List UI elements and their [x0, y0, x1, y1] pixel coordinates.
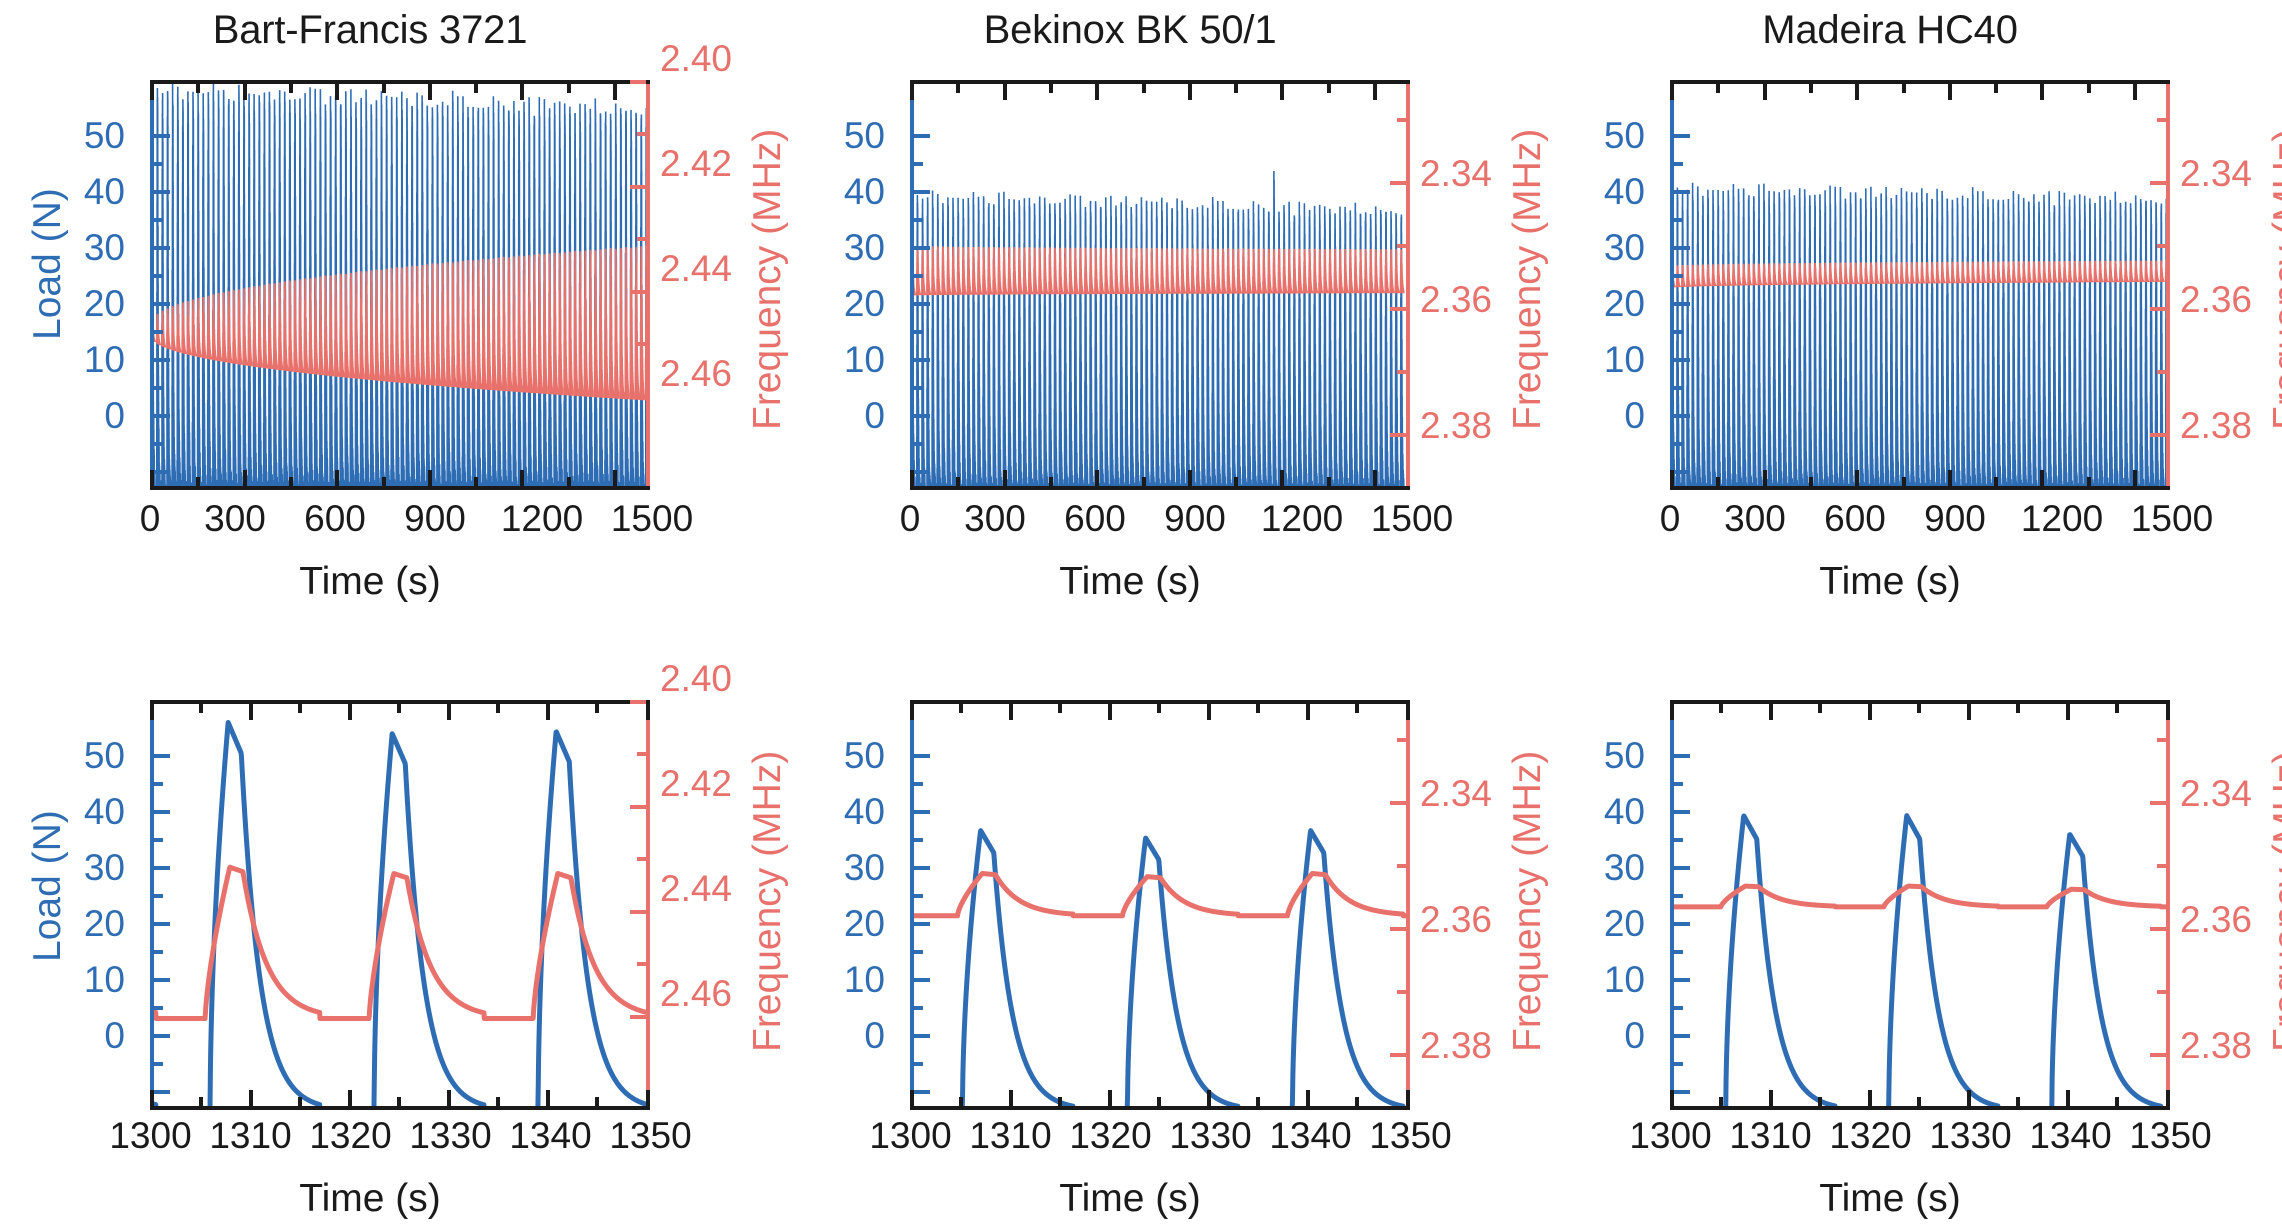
y-tick — [1674, 330, 1683, 334]
y-tick — [1674, 1006, 1683, 1010]
y2-tick — [630, 80, 646, 84]
x-tick-label: 0 — [110, 500, 190, 537]
y-tick — [154, 978, 170, 982]
y-tick — [1674, 218, 1683, 222]
y2-tick-label-frequency: 2.38 — [1420, 1027, 1492, 1064]
y-tick-label-load: 0 — [815, 397, 885, 434]
x-tick-top — [2040, 84, 2044, 100]
y2-tick-label-frequency: 2.36 — [1420, 281, 1492, 318]
x-tick — [910, 470, 914, 486]
y2-tick-label-frequency: 2.38 — [2180, 1027, 2252, 1064]
x-tick-label: 600 — [1040, 500, 1150, 537]
y-tick — [154, 1034, 170, 1038]
x-tick — [646, 1090, 650, 1106]
y-tick — [914, 442, 923, 446]
x-tick-top — [956, 84, 960, 93]
y-tick-label-load: 50 — [55, 117, 125, 154]
y-tick — [914, 838, 923, 842]
y-tick — [914, 1090, 930, 1094]
y-tick — [1674, 302, 1690, 306]
y2-tick — [637, 237, 646, 241]
x-tick-top — [335, 84, 339, 100]
panel-bart-francis-overview: Bart-Francis 3721 Load (N) Frequency (MH… — [0, 0, 760, 612]
y-tick — [1674, 922, 1690, 926]
x-tick — [1049, 477, 1053, 486]
y-tick — [914, 978, 930, 982]
plot-area[interactable] — [910, 80, 1410, 490]
x-tick-label: 300 — [940, 500, 1050, 537]
y-tick — [154, 414, 170, 418]
y-tick — [914, 922, 930, 926]
y2-tick — [1397, 864, 1406, 868]
y-tick — [914, 190, 930, 194]
right-spine — [1406, 80, 1410, 490]
x-tick-top — [196, 84, 200, 93]
y2-tick — [630, 185, 646, 189]
y-tick-label-load: 20 — [1575, 285, 1645, 322]
y-tick — [1674, 442, 1683, 446]
y-tick-label-load: 10 — [1575, 961, 1645, 998]
y-tick — [914, 894, 923, 898]
y-tick — [1674, 386, 1683, 390]
x-tick-top — [1234, 84, 1238, 93]
x-tick-top — [546, 704, 550, 720]
y2-tick-label-frequency: 2.36 — [2180, 901, 2252, 938]
x-tick-top — [520, 84, 524, 100]
y-tick — [1674, 950, 1683, 954]
plot-svg — [910, 700, 1410, 1110]
x-tick-top — [382, 84, 386, 93]
x-tick — [447, 1090, 451, 1106]
y-tick — [914, 414, 930, 418]
y-tick — [1674, 358, 1690, 362]
x-tick-top — [1142, 84, 1146, 93]
x-tick-top — [474, 84, 478, 93]
x-tick — [1280, 470, 1284, 486]
series-canvas — [1670, 80, 2170, 490]
top-spine — [910, 80, 1410, 84]
y-tick-label-load: 0 — [55, 397, 125, 434]
load-series — [1670, 816, 2170, 1110]
load-series — [910, 171, 1404, 490]
left-spine — [910, 80, 914, 490]
x-tick — [1763, 470, 1767, 486]
y2-tick — [1390, 801, 1406, 805]
y-tick — [1674, 1062, 1683, 1066]
x-tick-label: 600 — [1800, 500, 1910, 537]
bottom-spine — [1670, 1106, 2170, 1110]
y-tick — [914, 358, 930, 362]
x-tick — [196, 477, 200, 486]
y2-tick — [1397, 370, 1406, 374]
plot-svg — [1670, 80, 2170, 490]
x-tick-top — [1818, 704, 1822, 713]
y-tick — [914, 1006, 923, 1010]
x-tick — [1670, 1090, 1674, 1106]
x-tick — [2016, 1097, 2020, 1106]
x-tick-top — [1207, 704, 1211, 720]
x-tick — [520, 470, 524, 486]
y-tick — [154, 218, 163, 222]
x-tick-top — [1058, 704, 1062, 713]
x-tick — [567, 477, 571, 486]
y2-tick — [2157, 864, 2166, 868]
x-tick — [1355, 1097, 1359, 1106]
x-tick — [1719, 1097, 1723, 1106]
y-tick — [914, 782, 923, 786]
x-tick-label: 1500 — [2102, 500, 2242, 537]
panel-bekinox-zoom: Frequency (MHz) Time (s) 50 40 30 20 10 … — [760, 612, 1520, 1224]
y-tick — [914, 246, 930, 250]
x-tick — [1868, 1090, 1872, 1106]
y2-tick-label-frequency: 2.34 — [1420, 155, 1492, 192]
x-axis-title: Time (s) — [1680, 560, 2100, 604]
x-tick — [335, 470, 339, 486]
x-tick-label: 1500 — [1342, 500, 1482, 537]
x-tick-top — [348, 704, 352, 720]
y-tick — [154, 922, 170, 926]
y-tick-label-load: 10 — [55, 341, 125, 378]
x-tick — [1234, 477, 1238, 486]
y-tick — [154, 1006, 163, 1010]
x-tick-top — [243, 84, 247, 100]
plot-area[interactable] — [1670, 80, 2170, 490]
x-tick — [1373, 470, 1377, 486]
x-tick-top — [2066, 704, 2070, 720]
y-tick — [1674, 810, 1690, 814]
y-tick-label-load: 0 — [55, 1017, 125, 1054]
x-tick-top — [1763, 84, 1767, 100]
y2-tick — [2157, 738, 2166, 742]
y2-tick — [2150, 801, 2166, 805]
x-tick — [397, 1097, 401, 1106]
y2-tick — [637, 752, 646, 756]
x-tick-top — [1280, 84, 1284, 100]
y-tick-label-load: 50 — [1575, 117, 1645, 154]
x-tick-top — [1373, 84, 1377, 100]
y-tick — [914, 1062, 923, 1066]
x-tick — [496, 1097, 500, 1106]
plot-area[interactable] — [150, 80, 650, 490]
y-tick-label-load: 40 — [1575, 793, 1645, 830]
panel-title: Bekinox BK 50/1 — [800, 8, 1460, 53]
y-tick — [154, 754, 170, 758]
panel-bart-francis-zoom: Load (N) Frequency (MHz) Time (s) 50 40 … — [0, 612, 760, 1224]
y-tick — [914, 810, 930, 814]
panel-madeira-overview: Madeira HC40 Time (s) Frequency (MHz) 50… — [1520, 0, 2282, 612]
y2-tick-label-frequency: 2.34 — [1420, 775, 1492, 812]
x-tick-top — [1095, 84, 1099, 100]
y-tick — [914, 470, 930, 474]
y2-tick — [637, 857, 646, 861]
y-tick — [154, 1090, 170, 1094]
y2-tick-label-frequency: 2.38 — [1420, 407, 1492, 444]
x-tick-top — [1967, 704, 1971, 720]
y-tick — [1674, 754, 1690, 758]
right-spine — [2166, 700, 2170, 1110]
x-tick-top — [1769, 704, 1773, 720]
x-tick-top — [1719, 704, 1723, 713]
bottom-spine — [1670, 486, 2170, 490]
y-tick-label-load: 40 — [1575, 173, 1645, 210]
y2-tick — [2157, 990, 2166, 994]
series-canvas — [1670, 700, 2170, 1110]
right-spine — [646, 80, 650, 490]
x-tick — [1902, 477, 1906, 486]
x-tick — [959, 1097, 963, 1106]
right-spine — [2166, 80, 2170, 490]
y-tick — [1674, 414, 1690, 418]
y2-tick — [2150, 433, 2166, 437]
y-tick-label-load: 30 — [55, 229, 125, 266]
series-canvas — [150, 80, 650, 490]
y2-tick — [2157, 244, 2166, 248]
bottom-spine — [910, 486, 1410, 490]
x-tick — [1157, 1097, 1161, 1106]
x-tick — [382, 477, 386, 486]
x-tick — [1207, 1090, 1211, 1106]
y-tick-label-load: 10 — [815, 961, 885, 998]
x-tick — [1009, 1090, 1013, 1106]
x-tick-label: 1350 — [2098, 1117, 2243, 1154]
y-tick — [914, 302, 930, 306]
y-tick — [154, 950, 163, 954]
y-tick-label-load: 10 — [815, 341, 885, 378]
bottom-spine — [150, 1106, 650, 1110]
y-tick-label-load: 50 — [815, 117, 885, 154]
x-tick-top — [1327, 84, 1331, 93]
x-tick-top — [1868, 704, 1872, 720]
y-tick — [1674, 246, 1690, 250]
x-tick — [956, 477, 960, 486]
y-tick — [914, 754, 930, 758]
figure-root: Bart-Francis 3721 Load (N) Frequency (MH… — [0, 0, 2282, 1224]
x-tick-top — [1306, 704, 1310, 720]
left-spine — [150, 80, 154, 490]
left-spine — [150, 700, 154, 1110]
x-tick — [1058, 1097, 1062, 1106]
x-tick — [289, 477, 293, 486]
y-tick — [154, 134, 170, 138]
series-canvas — [150, 700, 650, 1110]
panel-bekinox-overview: Bekinox BK 50/1 Time (s) Frequency (MHz)… — [760, 0, 1520, 612]
x-tick-top — [199, 704, 203, 713]
x-tick — [2040, 470, 2044, 486]
x-tick — [1188, 470, 1192, 486]
y-tick — [914, 218, 923, 222]
y-tick-label-load: 50 — [55, 737, 125, 774]
y-tick-label-load: 20 — [55, 285, 125, 322]
panel-madeira-zoom: Frequency (MHz) Time (s) 50 40 30 20 10 … — [1520, 612, 2282, 1224]
y-tick — [154, 302, 170, 306]
x-tick — [546, 1090, 550, 1106]
y2-tick-label-frequency: 2.42 — [660, 765, 732, 802]
x-tick-top — [959, 704, 963, 713]
x-tick-label: 0 — [1630, 500, 1710, 537]
y-tick — [154, 274, 163, 278]
x-tick — [910, 1090, 914, 1106]
x-axis-title: Time (s) — [160, 560, 580, 604]
bottom-spine — [150, 486, 650, 490]
left-spine — [1670, 80, 1674, 490]
x-tick-top — [1994, 84, 1998, 93]
plot-area[interactable] — [150, 700, 650, 1110]
x-tick — [1818, 1097, 1822, 1106]
x-tick — [613, 470, 617, 486]
y-tick-label-load: 10 — [1575, 341, 1645, 378]
x-tick — [2115, 1097, 2119, 1106]
x-tick-top — [1108, 704, 1112, 720]
right-spine — [646, 700, 650, 1110]
x-tick-label: 1350 — [578, 1117, 723, 1154]
y-tick — [914, 866, 930, 870]
x-tick-label: 300 — [1700, 500, 1810, 537]
x-tick-top — [1716, 84, 1720, 93]
y-tick-label-load: 40 — [55, 793, 125, 830]
x-tick-top — [150, 84, 154, 100]
x-tick — [1809, 477, 1813, 486]
x-tick — [243, 470, 247, 486]
y2-tick — [2150, 181, 2166, 185]
y2-tick — [630, 395, 646, 399]
y2-tick — [2150, 927, 2166, 931]
x-tick-top — [1256, 704, 1260, 713]
y-tick-label-load: 20 — [55, 905, 125, 942]
y-tick — [154, 782, 163, 786]
y2-tick-label-frequency: 2.46 — [660, 355, 732, 392]
x-tick-top — [567, 84, 571, 93]
y-tick — [914, 1034, 930, 1038]
x-tick — [2066, 1090, 2070, 1106]
plot-svg — [910, 80, 1410, 490]
x-tick-top — [1355, 704, 1359, 713]
y-tick-label-load: 30 — [55, 849, 125, 886]
y2-tick — [1397, 990, 1406, 994]
x-tick — [1855, 470, 1859, 486]
x-tick-top — [428, 84, 432, 100]
y2-tick — [2157, 370, 2166, 374]
x-tick-top — [2115, 704, 2119, 713]
y-tick — [154, 162, 163, 166]
y2-tick-label-frequency: 2.34 — [2180, 775, 2252, 812]
y-tick — [914, 950, 923, 954]
x-tick-top — [1188, 84, 1192, 100]
y2-tick — [1397, 738, 1406, 742]
x-tick — [348, 1090, 352, 1106]
x-tick — [1142, 477, 1146, 486]
x-tick-top — [2016, 704, 2020, 713]
y2-tick — [637, 342, 646, 346]
plot-svg — [1670, 700, 2170, 1110]
y2-tick — [630, 700, 646, 704]
y2-tick — [630, 1015, 646, 1019]
x-tick — [1917, 1097, 1921, 1106]
x-tick — [1256, 1097, 1260, 1106]
y2-tick — [637, 962, 646, 966]
x-tick-top — [1157, 704, 1161, 713]
y2-tick — [637, 132, 646, 136]
x-tick — [1716, 477, 1720, 486]
x-tick — [150, 1090, 154, 1106]
y2-tick — [1390, 927, 1406, 931]
bottom-spine — [910, 1106, 1410, 1110]
plot-svg — [150, 700, 650, 1110]
y2-tick-label-frequency: 2.36 — [1420, 901, 1492, 938]
x-tick-top — [397, 704, 401, 713]
y-tick — [914, 330, 923, 334]
y-tick — [914, 134, 930, 138]
plot-area[interactable] — [1670, 700, 2170, 1110]
x-tick-top — [595, 704, 599, 713]
y-tick-label-load: 20 — [1575, 905, 1645, 942]
y2-tick — [630, 910, 646, 914]
load-series — [1670, 183, 2167, 490]
x-tick-top — [1855, 84, 1859, 100]
y2-tick-label-frequency: 2.44 — [660, 250, 732, 287]
y-tick-label-load: 0 — [1575, 1017, 1645, 1054]
y-tick-label-load: 30 — [815, 229, 885, 266]
y2-tick — [1397, 244, 1406, 248]
x-tick — [2166, 1090, 2170, 1106]
y-tick — [1674, 838, 1683, 842]
x-tick-label: 0 — [870, 500, 950, 537]
y2-tick-label-frequency: 2.40 — [660, 40, 732, 77]
y-tick — [154, 894, 163, 898]
x-tick-top — [249, 704, 253, 720]
y-tick — [1674, 162, 1683, 166]
x-tick — [1948, 470, 1952, 486]
frequency-series — [1670, 886, 2170, 907]
y-tick-label-load: 50 — [815, 737, 885, 774]
x-tick — [474, 477, 478, 486]
y-tick — [1674, 274, 1683, 278]
x-tick — [1108, 1090, 1112, 1106]
x-tick-top — [613, 84, 617, 100]
x-tick — [199, 1097, 203, 1106]
series-canvas — [910, 700, 1410, 1110]
plot-area[interactable] — [910, 700, 1410, 1110]
series-canvas — [910, 80, 1410, 490]
y-tick-label-load: 30 — [815, 849, 885, 886]
y-tick — [154, 358, 170, 362]
y-tick — [154, 1062, 163, 1066]
y2-tick — [1390, 181, 1406, 185]
y-tick — [1674, 978, 1690, 982]
x-axis-title: Time (s) — [920, 1177, 1340, 1221]
x-tick-top — [910, 84, 914, 100]
y-tick — [154, 810, 170, 814]
y-axis-title-frequency: Frequency (MHz) — [2266, 129, 2282, 430]
x-tick-top — [289, 84, 293, 93]
x-tick — [2133, 470, 2137, 486]
y-tick-label-load: 30 — [1575, 849, 1645, 886]
y-tick — [1674, 894, 1683, 898]
x-tick-top — [1948, 84, 1952, 100]
y-tick — [154, 470, 170, 474]
y2-tick — [2150, 307, 2166, 311]
x-tick-top — [1902, 84, 1906, 93]
y-tick-label-load: 40 — [55, 173, 125, 210]
y-tick — [154, 246, 170, 250]
y2-tick-label-frequency: 2.42 — [660, 145, 732, 182]
x-tick — [2087, 477, 2091, 486]
y-tick-label-load: 50 — [1575, 737, 1645, 774]
y-tick-label-load: 30 — [1575, 229, 1645, 266]
x-tick — [1769, 1090, 1773, 1106]
x-tick-top — [1009, 704, 1013, 720]
y2-tick — [1390, 1053, 1406, 1057]
y2-tick — [2157, 118, 2166, 122]
